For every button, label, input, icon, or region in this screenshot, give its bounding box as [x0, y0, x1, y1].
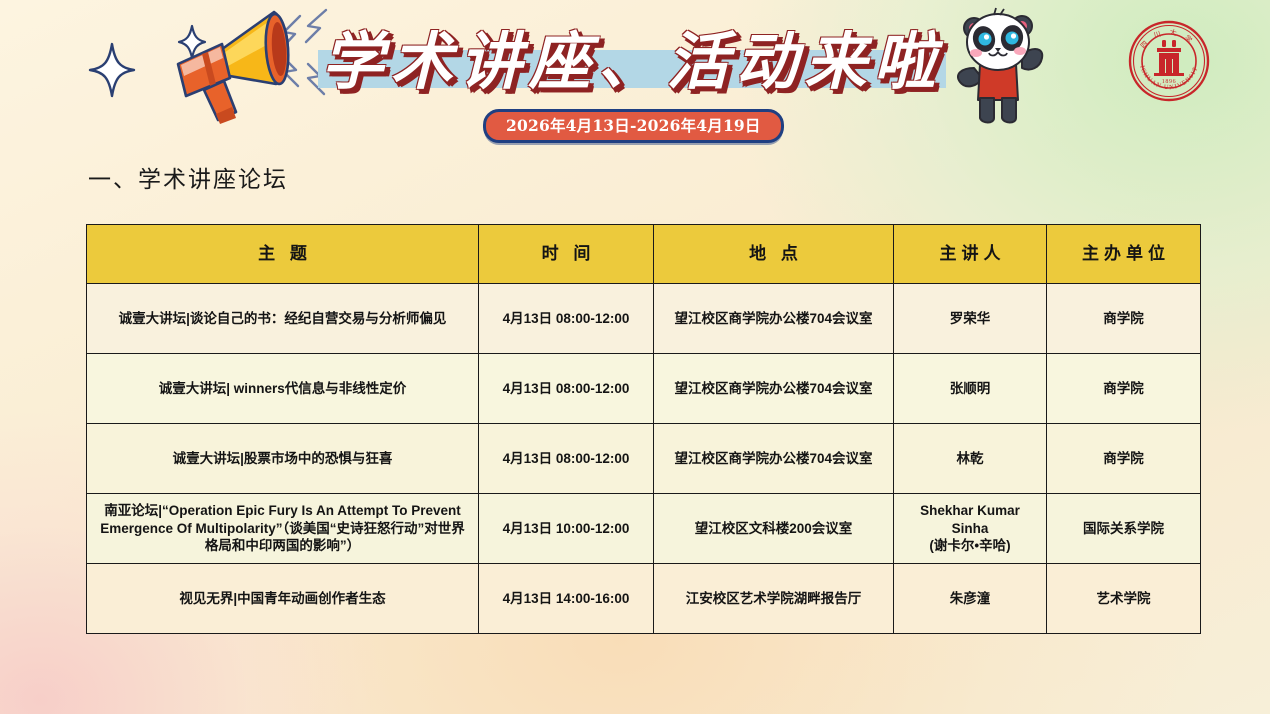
cell-speaker: Shekhar Kumar Sinha (谢卡尔•辛哈)	[894, 494, 1047, 564]
sichuan-university-logo: 1896 SICHUAN UNIVERSITY 四川大学	[1126, 18, 1212, 104]
sparkle-icon-large	[88, 42, 136, 98]
cell-topic: 视见无界|中国青年动画创作者生态	[87, 564, 479, 634]
cell-time: 4月13日 08:00-12:00	[479, 354, 654, 424]
table-row: 南亚论坛|“Operation Epic Fury Is An Attempt …	[87, 494, 1201, 564]
cell-speaker: 朱彦潼	[894, 564, 1047, 634]
poster-header: 学术讲座、活动来啦 2026年4月13日-2026年4月19日	[0, 0, 1270, 155]
section-heading: 一、学术讲座论坛	[88, 160, 288, 194]
cell-topic: 南亚论坛|“Operation Epic Fury Is An Attempt …	[87, 494, 479, 564]
cell-time: 4月13日 10:00-12:00	[479, 494, 654, 564]
cell-speaker: 张顺明	[894, 354, 1047, 424]
cell-place: 望江校区商学院办公楼704会议室	[654, 424, 894, 494]
cell-place: 望江校区商学院办公楼704会议室	[654, 354, 894, 424]
cell-speaker: 林乾	[894, 424, 1047, 494]
column-header-speaker: 主讲人	[894, 225, 1047, 284]
cell-time: 4月13日 14:00-16:00	[479, 564, 654, 634]
column-header-time: 时 间	[479, 225, 654, 284]
lecture-schedule-table: 主 题 时 间 地 点 主讲人 主办单位 诚壹大讲坛|谈论自己的书：经纪自营交易…	[86, 224, 1201, 634]
page-title: 学术讲座、活动来啦	[318, 16, 946, 108]
cell-place: 望江校区商学院办公楼704会议室	[654, 284, 894, 354]
column-header-topic: 主 题	[87, 225, 479, 284]
cell-host: 商学院	[1047, 424, 1201, 494]
table-row: 诚壹大讲坛|谈论自己的书：经纪自营交易与分析师偏见 4月13日 08:00-12…	[87, 284, 1201, 354]
cell-host: 艺术学院	[1047, 564, 1201, 634]
date-range-badge: 2026年4月13日-2026年4月19日	[483, 109, 784, 143]
cell-topic: 诚壹大讲坛|谈论自己的书：经纪自营交易与分析师偏见	[87, 284, 479, 354]
cell-host: 商学院	[1047, 284, 1201, 354]
table-header-row: 主 题 时 间 地 点 主讲人 主办单位	[87, 225, 1201, 284]
cell-time: 4月13日 08:00-12:00	[479, 424, 654, 494]
cell-host: 国际关系学院	[1047, 494, 1201, 564]
column-header-host: 主办单位	[1047, 225, 1201, 284]
poster-canvas: 学术讲座、活动来啦 2026年4月13日-2026年4月19日	[0, 0, 1270, 714]
cell-place: 江安校区艺术学院湖畔报告厅	[654, 564, 894, 634]
table-row: 视见无界|中国青年动画创作者生态 4月13日 14:00-16:00 江安校区艺…	[87, 564, 1201, 634]
table-row: 诚壹大讲坛|股票市场中的恐惧与狂喜 4月13日 08:00-12:00 望江校区…	[87, 424, 1201, 494]
cell-place: 望江校区文科楼200会议室	[654, 494, 894, 564]
svg-text:四川大学: 四川大学	[1139, 27, 1199, 50]
cell-host: 商学院	[1047, 354, 1201, 424]
cell-topic: 诚壹大讲坛|股票市场中的恐惧与狂喜	[87, 424, 479, 494]
cell-time: 4月13日 08:00-12:00	[479, 284, 654, 354]
megaphone-icon	[148, 8, 328, 128]
panda-mascot-icon	[946, 6, 1050, 128]
column-header-place: 地 点	[654, 225, 894, 284]
table-row: 诚壹大讲坛| winners代信息与非线性定价 4月13日 08:00-12:0…	[87, 354, 1201, 424]
cell-speaker: 罗荣华	[894, 284, 1047, 354]
cell-topic: 诚壹大讲坛| winners代信息与非线性定价	[87, 354, 479, 424]
